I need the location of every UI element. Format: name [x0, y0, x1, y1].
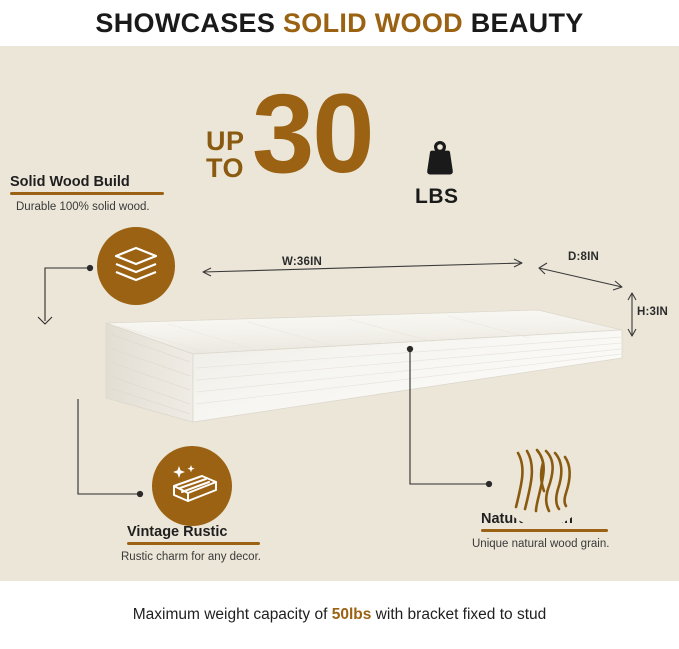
- capacity-unit: LBS: [415, 185, 459, 209]
- up-word: UP: [206, 126, 245, 156]
- footer-highlight: 50lbs: [332, 606, 372, 623]
- feature-underline-solid-wood-build: [10, 192, 164, 195]
- title-part-2: BEAUTY: [463, 8, 584, 38]
- height-label: H:3IN: [637, 306, 668, 318]
- feature-underline-natural-grain: [481, 529, 608, 532]
- footer-note: Maximum weight capacity of 50lbs with br…: [133, 606, 547, 624]
- product-infographic: SHOWCASES SOLID WOOD BEAUTY: [0, 0, 679, 649]
- feature-underline-vintage-rustic: [127, 542, 260, 545]
- wood-plank-sparkle-icon: [152, 446, 232, 526]
- footer-text-before: Maximum weight capacity of: [133, 606, 332, 623]
- main-illustration-panel: UP TO 30 LBS W:36IN D:8IN H:3IN Solid Wo…: [0, 46, 679, 581]
- title-accent: SOLID WOOD: [283, 8, 463, 38]
- capacity-number: 30: [252, 78, 373, 190]
- footer-text-after: with bracket fixed to stud: [371, 606, 546, 623]
- page-title: SHOWCASES SOLID WOOD BEAUTY: [95, 8, 583, 39]
- feature-subtitle-solid-wood-build: Durable 100% solid wood.: [16, 201, 150, 213]
- feature-title-solid-wood-build: Solid Wood Build: [10, 174, 130, 190]
- wood-grain-icon-glyph: [496, 433, 590, 527]
- to-word: TO: [206, 153, 244, 183]
- feature-subtitle-vintage-rustic: Rustic charm for any decor.: [121, 551, 261, 563]
- stacked-wood-icon: [97, 227, 175, 305]
- depth-label: D:8IN: [568, 251, 599, 263]
- wood-plank-sparkle-icon-glyph: [164, 462, 220, 510]
- height-dimension-arrow: [628, 293, 636, 336]
- up-to-label: UP TO: [206, 128, 245, 182]
- footer-banner: Maximum weight capacity of 50lbs with br…: [0, 581, 679, 649]
- width-label: W:36IN: [282, 256, 322, 268]
- weight-icon: [421, 138, 459, 180]
- title-part-1: SHOWCASES: [95, 8, 283, 38]
- feature-subtitle-natural-grain: Unique natural wood grain.: [472, 538, 609, 550]
- stacked-wood-icon-glyph: [111, 243, 161, 289]
- header-banner: SHOWCASES SOLID WOOD BEAUTY: [0, 0, 679, 46]
- feature-title-vintage-rustic: Vintage Rustic: [127, 524, 227, 540]
- wood-grain-icon: [496, 433, 590, 527]
- weight-capacity-block: UP TO 30 LBS: [200, 76, 480, 206]
